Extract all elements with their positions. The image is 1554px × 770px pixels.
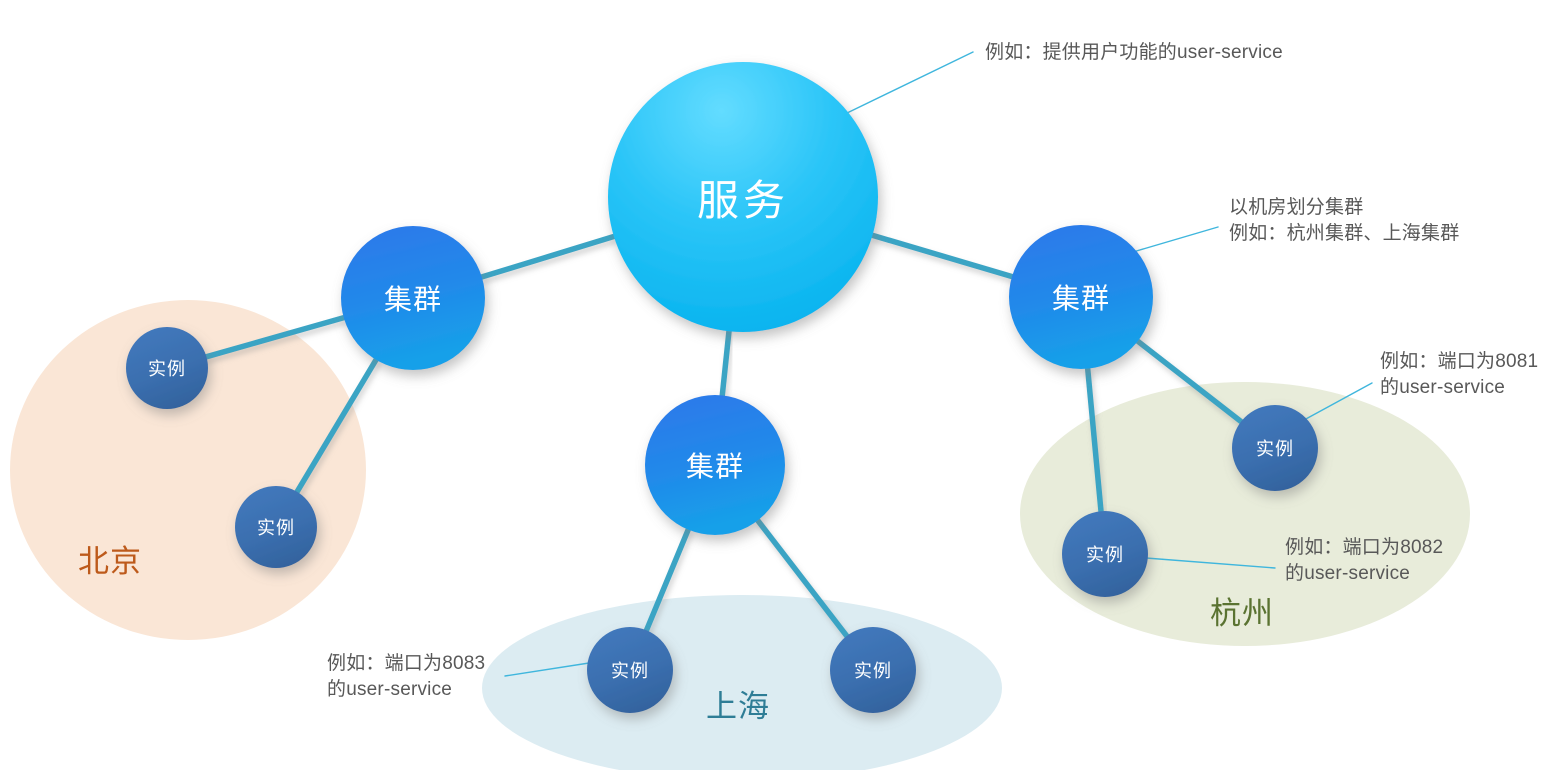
annotation-service-leader-line [845, 52, 973, 114]
annotation-instance-8082: 例如：端口为8082 的user-service [1285, 535, 1443, 587]
node-instance-bj1[interactable] [126, 327, 208, 409]
edge-service-cluster-sh [722, 329, 729, 397]
annotation-instance-8083: 例如：端口为8083 的user-service [327, 651, 485, 703]
edge-service-cluster-bj [480, 236, 616, 278]
diagram-svg-layer [0, 0, 1554, 770]
node-cluster-bj[interactable] [341, 226, 485, 370]
node-instance-hz1[interactable] [1232, 405, 1318, 491]
node-instance-sh1[interactable] [587, 627, 673, 713]
region-hangzhou-label: 杭州 [1210, 597, 1274, 631]
node-instance-hz2[interactable] [1062, 511, 1148, 597]
annotation-instance-8081: 例如：端口为8081 的user-service [1380, 349, 1538, 401]
annotation-cluster-leader-line [1133, 227, 1218, 252]
node-cluster-hz[interactable] [1009, 225, 1153, 369]
annotation-cluster: 以机房划分集群 例如：杭州集群、上海集群 [1229, 195, 1459, 247]
node-instance-sh2[interactable] [830, 627, 916, 713]
node-service[interactable] [608, 62, 878, 332]
region-beijing-label: 北京 [78, 545, 142, 579]
node-cluster-sh[interactable] [645, 395, 785, 535]
region-shanghai [482, 595, 1002, 770]
edge-service-cluster-hz [871, 235, 1014, 277]
annotation-service: 例如：提供用户功能的user-service [985, 40, 1283, 66]
region-shanghai-label: 上海 [706, 690, 770, 724]
node-instance-bj2[interactable] [235, 486, 317, 568]
diagram-canvas: 北京上海杭州例如：提供用户功能的user-service以机房划分集群 例如：杭… [0, 0, 1554, 770]
